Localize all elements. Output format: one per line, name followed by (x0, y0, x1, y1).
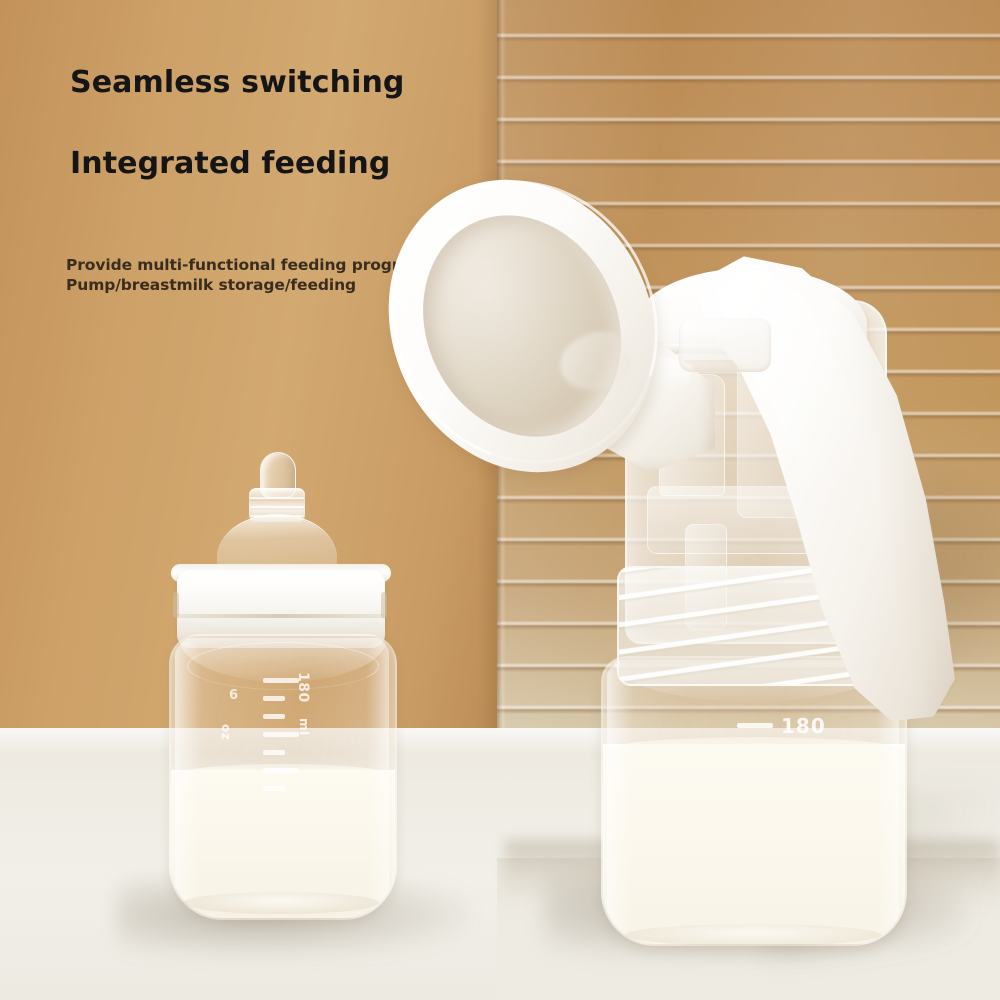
graduation-tick (263, 678, 299, 683)
glass-highlight-left (175, 642, 201, 913)
graduation-ounce-number: 6 (229, 688, 238, 703)
graduation-ounce-unit: oz (219, 724, 233, 740)
pump-bottle-highlight-left (607, 664, 633, 939)
pump-collection-bottle: 180 (601, 656, 907, 946)
bottle-base-ring (183, 892, 379, 914)
graduation-tick (263, 732, 299, 737)
collar-notch-right (381, 592, 387, 618)
manual-breast-pump: 180 (393, 168, 973, 940)
graduation-tick (263, 768, 299, 773)
product-scene: Seamless switching Integrated feeding Pr… (0, 0, 1000, 1000)
graduation-tick (263, 696, 285, 701)
pump-bottle-base-ring (625, 924, 881, 946)
graduation-tick (263, 714, 285, 719)
baby-bottle: 180 ml 6 oz (155, 452, 405, 932)
graduation-volume-unit: ml (297, 718, 311, 736)
bottle-glass-body: 180 ml 6 oz (169, 634, 397, 920)
pump-handle-pivot (679, 318, 771, 372)
pump-bottle-graduation-scale: 180 (737, 714, 833, 740)
collar-notch-left (173, 592, 179, 618)
graduation-volume-number: 180 (295, 672, 311, 703)
headline-line-1: Seamless switching (70, 68, 490, 98)
headline-block: Seamless switching Integrated feeding (70, 68, 490, 179)
graduation-tick (263, 786, 285, 791)
pump-bottle-milk-fill (603, 744, 905, 944)
graduation-tick (737, 723, 773, 728)
glass-highlight-right (367, 642, 389, 913)
graduation-volume-number: 180 (781, 714, 826, 738)
bottle-graduation-scale: 180 ml 6 oz (263, 672, 325, 798)
graduation-tick (263, 750, 285, 755)
